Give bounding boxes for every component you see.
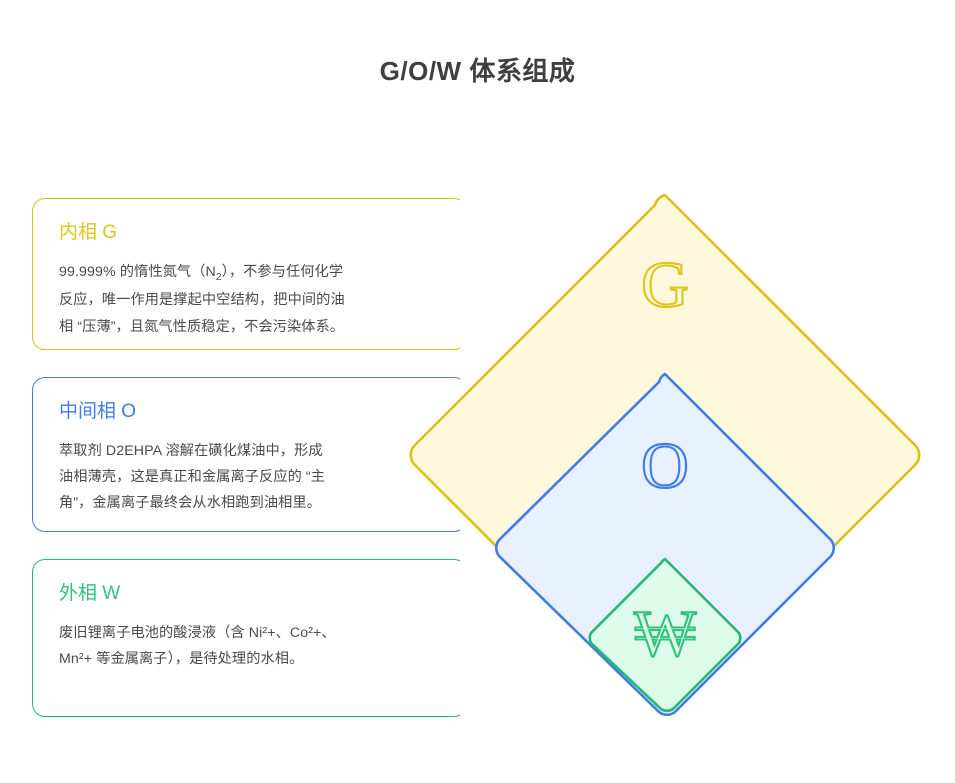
diamond-g-shape (411, 195, 919, 709)
card-edge-mask-middle (460, 370, 480, 542)
card-edge-mask-upper (460, 190, 480, 360)
won-sign-w-glyph: ₩ (634, 598, 697, 671)
letter-o-glyph: O (641, 430, 689, 503)
card-inner-phase-g-title: 内相 G (59, 221, 440, 246)
card-middle-phase-o[interactable]: 中间相 O 萃取剂 D2EHPA 溶解在磺化煤油中，形成 油相薄壳，这是真正和金… (32, 377, 467, 532)
card-middle-phase-o-body: 萃取剂 D2EHPA 溶解在磺化煤油中，形成 油相薄壳，这是真正和金属离子反应的… (59, 438, 440, 517)
card-outer-phase-w[interactable]: 外相 W 废旧锂离子电池的酸浸液（含 Ni²+、Co²+、 Mn²+ 等金属离子… (32, 559, 467, 717)
card-inner-phase-g[interactable]: 内相 G 99.999% 的惰性氮气（N2），不参与任何化学 反应，唯一作用是撑… (32, 198, 467, 350)
card-outer-phase-w-body: 废旧锂离子电池的酸浸液（含 Ni²+、Co²+、 Mn²+ 等金属离子），是待处… (59, 620, 440, 673)
diamond-w[interactable]: ₩ (590, 559, 740, 711)
card-inner-phase-g-body: 99.999% 的惰性氮气（N2），不参与任何化学 反应，唯一作用是撑起中空结构… (59, 259, 440, 340)
diagram-canvas: G/O/W 体系组成 内相 G 99.999% 的惰性氮气（N2），不参与任何化… (0, 0, 955, 783)
card-edge-mask-lower (460, 552, 480, 726)
page-title: G/O/W 体系组成 (0, 56, 955, 87)
diamond-o[interactable]: O (496, 374, 834, 715)
diamond-o-shape (496, 374, 834, 715)
card-middle-phase-o-title: 中间相 O (59, 400, 440, 425)
letter-g-glyph: G (641, 249, 689, 322)
diamond-g[interactable]: G (411, 195, 919, 709)
diamond-w-shape (590, 559, 740, 711)
card-outer-phase-w-title: 外相 W (59, 582, 440, 607)
